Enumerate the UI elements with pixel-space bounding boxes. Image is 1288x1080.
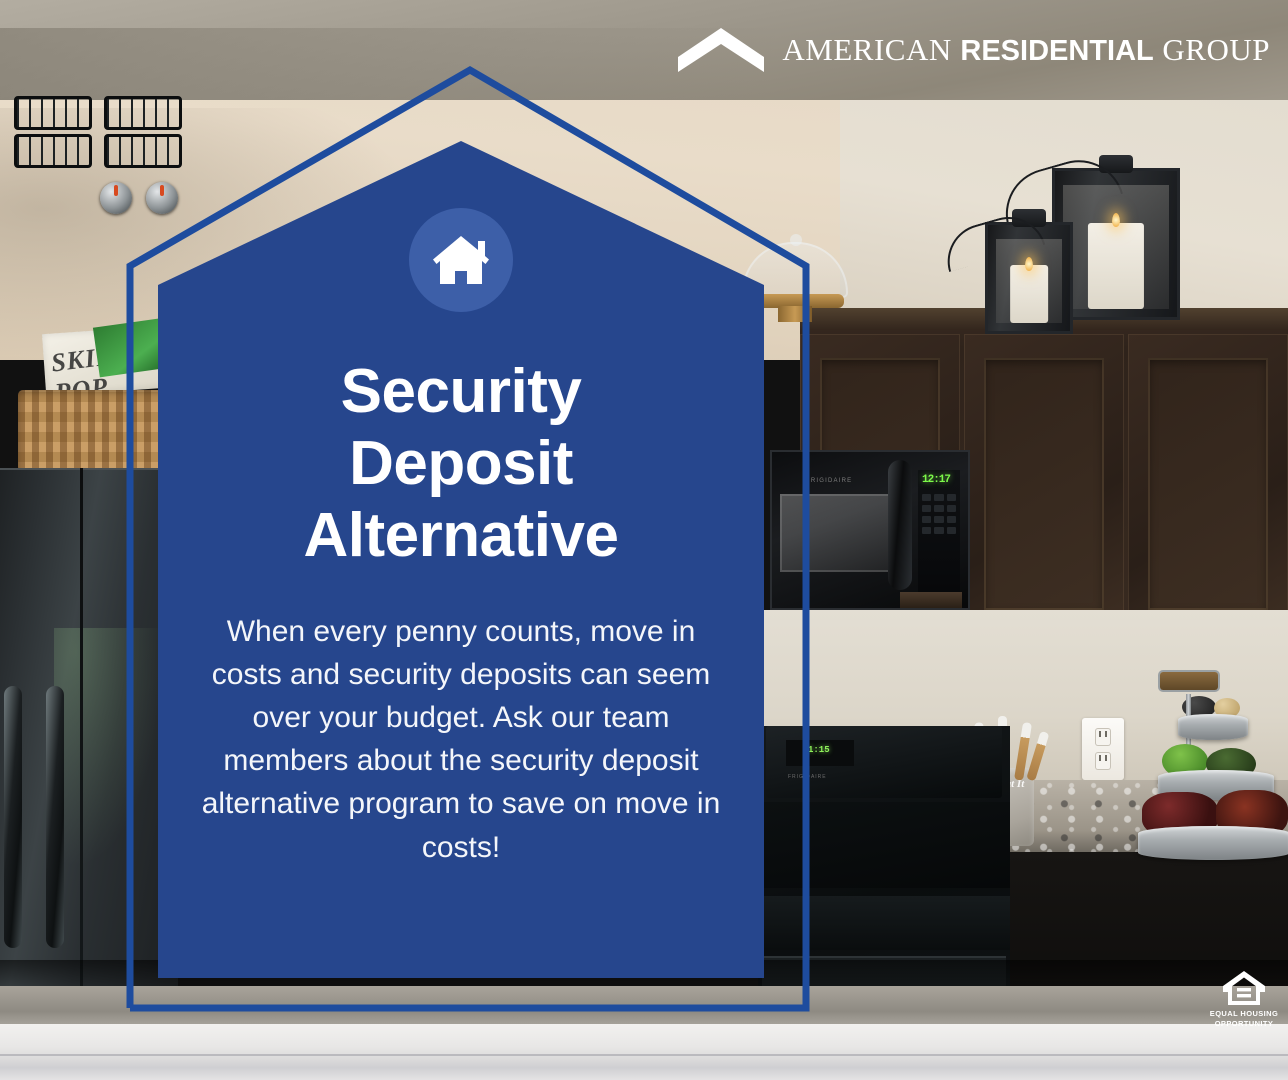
body-copy: When every penny counts, move in costs a… bbox=[188, 610, 734, 869]
eho-line-2: OPPORTUNITY bbox=[1206, 1019, 1282, 1028]
headline-line-3: Alternative bbox=[158, 500, 764, 572]
headline-line-2: Deposit bbox=[158, 428, 764, 500]
equal-housing-opportunity-logo: EQUAL HOUSING OPPORTUNITY bbox=[1206, 969, 1282, 1028]
brand-word-group: GROUP bbox=[1162, 32, 1270, 68]
brand-word-residential: RESIDENTIAL bbox=[960, 35, 1153, 68]
house-icon-badge bbox=[409, 208, 513, 312]
chevron-roof-logo-mark bbox=[676, 26, 766, 74]
house-icon bbox=[430, 232, 492, 288]
brand-logo: AMERICAN RESIDENTIAL GROUP bbox=[676, 26, 1270, 74]
headline-line-1: Security bbox=[158, 356, 764, 428]
marketing-graphic: FRIGIDAIRE 12:17 Just Beat It bbox=[0, 0, 1288, 1080]
equal-housing-house-icon bbox=[1221, 969, 1267, 1007]
eho-line-1: EQUAL HOUSING bbox=[1206, 1009, 1282, 1018]
brand-wordmark: AMERICAN RESIDENTIAL GROUP bbox=[782, 32, 1270, 68]
eho-caption: EQUAL HOUSING OPPORTUNITY bbox=[1206, 1009, 1282, 1028]
blue-house-panel: Security Deposit Alternative When every … bbox=[0, 0, 1288, 1080]
page-title: Security Deposit Alternative bbox=[158, 356, 764, 572]
brand-word-american: AMERICAN bbox=[782, 32, 951, 68]
